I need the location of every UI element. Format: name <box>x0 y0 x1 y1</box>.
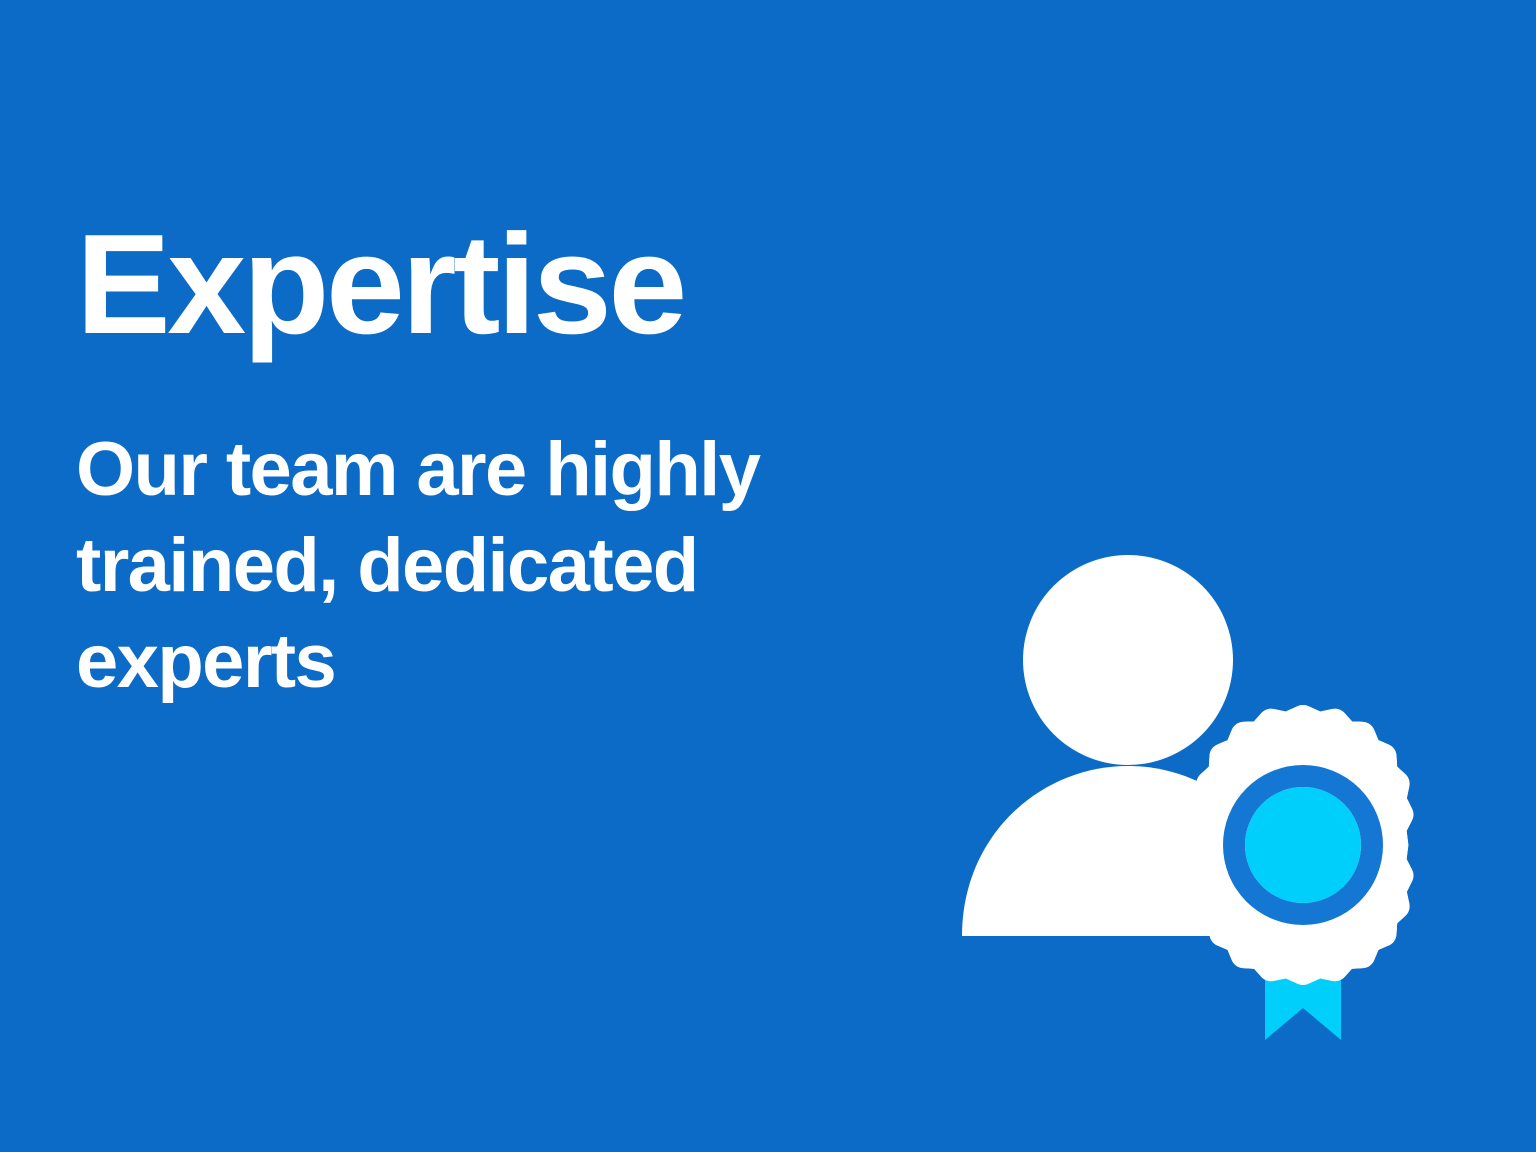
subheading-line: trained, dedicated <box>76 518 956 614</box>
person-head-icon <box>1023 555 1233 765</box>
subheading-line: Our team are highly <box>76 422 956 518</box>
subheading: Our team are highly trained, dedicated e… <box>76 356 956 710</box>
page-title: Expertise <box>76 214 956 356</box>
subheading-line: experts <box>76 614 956 710</box>
person-with-award-badge-icon <box>930 520 1470 1080</box>
text-block: Expertise Our team are highly trained, d… <box>76 214 956 710</box>
expertise-slide: Expertise Our team are highly trained, d… <box>0 0 1536 1152</box>
award-center-icon <box>1245 787 1361 903</box>
